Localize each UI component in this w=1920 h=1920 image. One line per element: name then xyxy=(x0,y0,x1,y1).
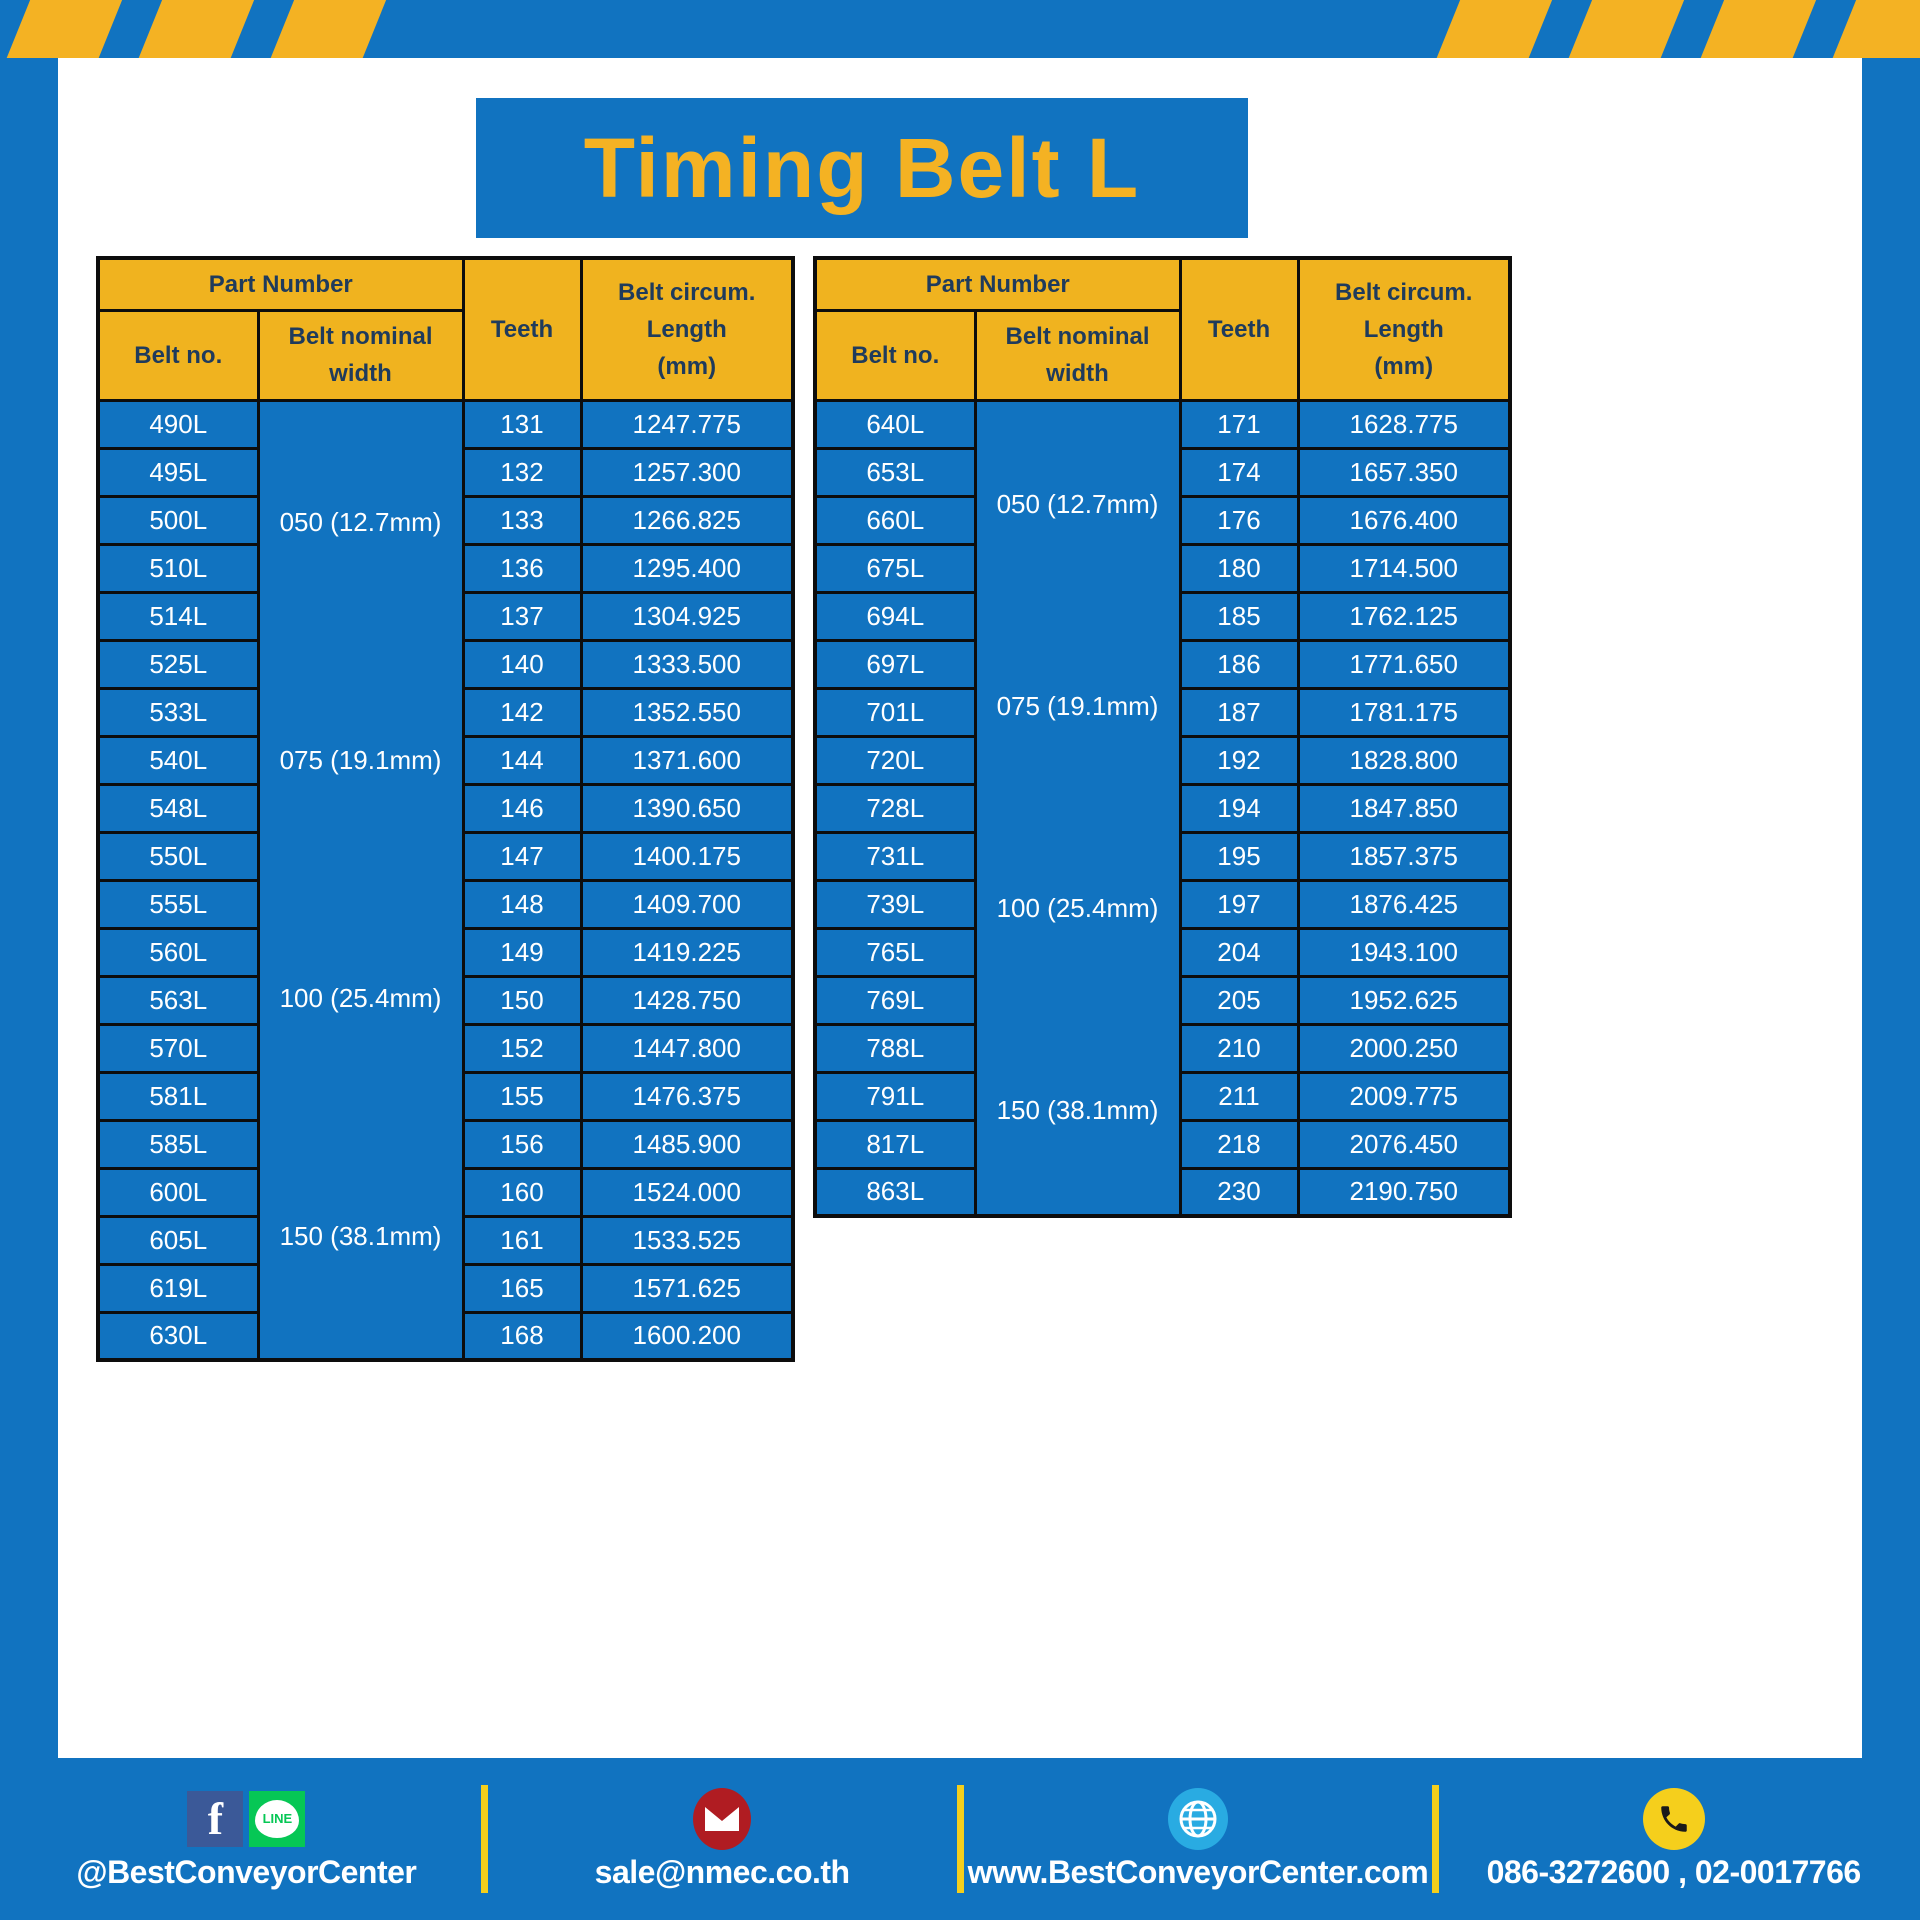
header-mm-text: (mm) xyxy=(587,348,788,385)
nominal-width-value: 150 (38.1mm) xyxy=(981,1010,1175,1212)
cell-length: 2076.450 xyxy=(1298,1120,1510,1168)
stripe-decoration xyxy=(1565,0,1686,58)
header-teeth: Teeth xyxy=(463,258,581,400)
belt-table-left-body: 490L050 (12.7mm)075 (19.1mm)100 (25.4mm)… xyxy=(98,400,793,1360)
cell-length: 1295.400 xyxy=(581,544,793,592)
cell-belt-no: 514L xyxy=(98,592,258,640)
cell-length: 2190.750 xyxy=(1298,1168,1510,1216)
header-belt-nominal-line1: Belt nominal xyxy=(981,318,1175,355)
header-part-number: Part Number xyxy=(815,258,1180,311)
cell-belt-no: 817L xyxy=(815,1120,975,1168)
cell-belt-no: 640L xyxy=(815,400,975,448)
cell-belt-no: 555L xyxy=(98,880,258,928)
cell-length: 1657.350 xyxy=(1298,448,1510,496)
cell-length: 1266.825 xyxy=(581,496,793,544)
cell-length: 1762.125 xyxy=(1298,592,1510,640)
stripe-decoration xyxy=(1433,0,1554,58)
footer-phone-group[interactable]: 086-3272600 , 02-0017766 xyxy=(1439,1788,1908,1891)
nominal-width-value: 050 (12.7mm) xyxy=(264,404,458,642)
cell-belt-no: 694L xyxy=(815,592,975,640)
top-decorative-band xyxy=(0,0,1920,58)
cell-teeth: 155 xyxy=(463,1072,581,1120)
nominal-width-value: 100 (25.4mm) xyxy=(264,880,458,1118)
cell-teeth: 161 xyxy=(463,1216,581,1264)
phone-icon[interactable] xyxy=(1643,1788,1705,1850)
cell-belt-no: 731L xyxy=(815,832,975,880)
cell-length: 1257.300 xyxy=(581,448,793,496)
cell-teeth: 146 xyxy=(463,784,581,832)
table-row: 490L050 (12.7mm)075 (19.1mm)100 (25.4mm)… xyxy=(98,400,793,448)
cell-length: 1419.225 xyxy=(581,928,793,976)
cell-teeth: 194 xyxy=(1180,784,1298,832)
cell-teeth: 133 xyxy=(463,496,581,544)
cell-belt-no: 630L xyxy=(98,1312,258,1360)
cell-length: 1533.525 xyxy=(581,1216,793,1264)
cell-length: 1390.650 xyxy=(581,784,793,832)
nominal-width-value: 100 (25.4mm) xyxy=(981,808,1175,1010)
cell-teeth: 160 xyxy=(463,1168,581,1216)
header-belt-circum-length: Belt circum. Length (mm) xyxy=(581,258,793,400)
header-belt-circum-text: Belt circum. xyxy=(1304,274,1505,311)
facebook-icon[interactable]: f xyxy=(187,1791,243,1847)
cell-teeth: 185 xyxy=(1180,592,1298,640)
cell-teeth: 150 xyxy=(463,976,581,1024)
cell-length: 1628.775 xyxy=(1298,400,1510,448)
header-belt-no: Belt no. xyxy=(98,311,258,400)
cell-length: 2009.775 xyxy=(1298,1072,1510,1120)
cell-belt-no: 791L xyxy=(815,1072,975,1120)
cell-length: 1857.375 xyxy=(1298,832,1510,880)
header-belt-nominal-width: Belt nominal width xyxy=(258,311,463,400)
footer-social-icons: f LINE xyxy=(187,1788,305,1850)
cell-length: 1714.500 xyxy=(1298,544,1510,592)
website-url: www.BestConveyorCenter.com xyxy=(968,1854,1429,1891)
footer-social-group[interactable]: f LINE @BestConveyorCenter xyxy=(12,1788,481,1891)
facebook-handle: @BestConveyorCenter xyxy=(76,1854,416,1891)
cell-belt-no: 560L xyxy=(98,928,258,976)
cell-length: 2000.250 xyxy=(1298,1024,1510,1072)
cell-teeth: 204 xyxy=(1180,928,1298,976)
footer-email-group[interactable]: sale@nmec.co.th xyxy=(488,1788,957,1891)
belt-table-right: Part Number Teeth Belt circum. Length (m… xyxy=(813,256,1512,1218)
cell-length: 1847.850 xyxy=(1298,784,1510,832)
cell-belt-nominal-width: 050 (12.7mm)075 (19.1mm)100 (25.4mm)150 … xyxy=(975,400,1180,1216)
header-belt-circum-length: Belt circum. Length (mm) xyxy=(1298,258,1510,400)
cell-belt-no: 739L xyxy=(815,880,975,928)
cell-belt-no: 495L xyxy=(98,448,258,496)
stripe-decoration xyxy=(3,0,124,58)
cell-belt-no: 581L xyxy=(98,1072,258,1120)
footer-divider xyxy=(1432,1785,1439,1893)
footer-contact-bar: f LINE @BestConveyorCenter sale@nmec.co.… xyxy=(0,1758,1920,1920)
cell-belt-no: 500L xyxy=(98,496,258,544)
cell-length: 1781.175 xyxy=(1298,688,1510,736)
header-mm-text: (mm) xyxy=(1304,348,1505,385)
phone-number: 086-3272600 , 02-0017766 xyxy=(1487,1854,1861,1891)
cell-teeth: 136 xyxy=(463,544,581,592)
header-belt-nominal-width: Belt nominal width xyxy=(975,311,1180,400)
cell-teeth: 197 xyxy=(1180,880,1298,928)
cell-length: 1571.625 xyxy=(581,1264,793,1312)
header-part-number: Part Number xyxy=(98,258,463,311)
cell-belt-no: 619L xyxy=(98,1264,258,1312)
cell-length: 1247.775 xyxy=(581,400,793,448)
header-belt-nominal-line2: width xyxy=(981,355,1175,392)
footer-divider xyxy=(957,1785,964,1893)
stripe-decoration xyxy=(1697,0,1818,58)
cell-teeth: 156 xyxy=(463,1120,581,1168)
belt-tables-container: Part Number Teeth Belt circum. Length (m… xyxy=(96,256,1826,1362)
cell-belt-no: 548L xyxy=(98,784,258,832)
cell-teeth: 168 xyxy=(463,1312,581,1360)
line-icon[interactable]: LINE xyxy=(249,1791,305,1847)
header-belt-no: Belt no. xyxy=(815,311,975,400)
cell-teeth: 132 xyxy=(463,448,581,496)
email-icon[interactable] xyxy=(693,1788,751,1850)
cell-length: 1409.700 xyxy=(581,880,793,928)
page-title-box: Timing Belt L xyxy=(476,98,1248,238)
cell-belt-no: 728L xyxy=(815,784,975,832)
cell-belt-nominal-width: 050 (12.7mm)075 (19.1mm)100 (25.4mm)150 … xyxy=(258,400,463,1360)
cell-teeth: 131 xyxy=(463,400,581,448)
cell-teeth: 230 xyxy=(1180,1168,1298,1216)
footer-website-group[interactable]: www.BestConveyorCenter.com xyxy=(964,1788,1433,1891)
page-title: Timing Belt L xyxy=(584,126,1140,210)
cell-teeth: 218 xyxy=(1180,1120,1298,1168)
cell-teeth: 140 xyxy=(463,640,581,688)
cell-belt-no: 533L xyxy=(98,688,258,736)
cell-teeth: 152 xyxy=(463,1024,581,1072)
header-belt-nominal-line2: width xyxy=(264,355,458,392)
cell-length: 1476.375 xyxy=(581,1072,793,1120)
cell-belt-no: 788L xyxy=(815,1024,975,1072)
cell-teeth: 165 xyxy=(463,1264,581,1312)
cell-teeth: 186 xyxy=(1180,640,1298,688)
table-row: 640L050 (12.7mm)075 (19.1mm)100 (25.4mm)… xyxy=(815,400,1510,448)
cell-teeth: 137 xyxy=(463,592,581,640)
content-card: Timing Belt L Part Number Teeth Belt cir… xyxy=(58,58,1862,1758)
cell-length: 1600.200 xyxy=(581,1312,793,1360)
cell-length: 1400.175 xyxy=(581,832,793,880)
cell-belt-no: 769L xyxy=(815,976,975,1024)
cell-length: 1447.800 xyxy=(581,1024,793,1072)
cell-belt-no: 605L xyxy=(98,1216,258,1264)
cell-teeth: 210 xyxy=(1180,1024,1298,1072)
cell-teeth: 142 xyxy=(463,688,581,736)
cell-teeth: 144 xyxy=(463,736,581,784)
nominal-width-value: 075 (19.1mm) xyxy=(264,642,458,880)
cell-teeth: 176 xyxy=(1180,496,1298,544)
cell-teeth: 192 xyxy=(1180,736,1298,784)
cell-length: 1828.800 xyxy=(1298,736,1510,784)
cell-belt-no: 653L xyxy=(815,448,975,496)
cell-belt-no: 701L xyxy=(815,688,975,736)
cell-teeth: 205 xyxy=(1180,976,1298,1024)
line-icon-label: LINE xyxy=(255,1800,299,1838)
nominal-width-value: 075 (19.1mm) xyxy=(981,606,1175,808)
header-teeth: Teeth xyxy=(1180,258,1298,400)
cell-length: 1876.425 xyxy=(1298,880,1510,928)
cell-belt-no: 563L xyxy=(98,976,258,1024)
footer-website-icon-wrap xyxy=(1168,1788,1228,1850)
table-header-row-1: Part Number Teeth Belt circum. Length (m… xyxy=(815,258,1510,311)
header-belt-circum-text: Belt circum. xyxy=(587,274,788,311)
nominal-width-value: 050 (12.7mm) xyxy=(981,404,1175,606)
cell-length: 1485.900 xyxy=(581,1120,793,1168)
header-belt-nominal-line1: Belt nominal xyxy=(264,318,458,355)
nominal-width-value: 150 (38.1mm) xyxy=(264,1118,458,1356)
stripe-decoration xyxy=(1829,0,1920,58)
email-address: sale@nmec.co.th xyxy=(595,1854,850,1891)
cell-length: 1524.000 xyxy=(581,1168,793,1216)
cell-teeth: 171 xyxy=(1180,400,1298,448)
cell-belt-no: 600L xyxy=(98,1168,258,1216)
cell-length: 1428.750 xyxy=(581,976,793,1024)
footer-email-icon-wrap xyxy=(693,1788,751,1850)
cell-belt-no: 585L xyxy=(98,1120,258,1168)
cell-length: 1352.550 xyxy=(581,688,793,736)
cell-length: 1333.500 xyxy=(581,640,793,688)
cell-length: 1676.400 xyxy=(1298,496,1510,544)
cell-teeth: 180 xyxy=(1180,544,1298,592)
cell-belt-no: 720L xyxy=(815,736,975,784)
footer-phone-icon-wrap xyxy=(1643,1788,1705,1850)
cell-teeth: 211 xyxy=(1180,1072,1298,1120)
cell-teeth: 149 xyxy=(463,928,581,976)
header-length-text: Length xyxy=(1304,311,1505,348)
belt-table-right-body: 640L050 (12.7mm)075 (19.1mm)100 (25.4mm)… xyxy=(815,400,1510,1216)
cell-length: 1304.925 xyxy=(581,592,793,640)
cell-teeth: 174 xyxy=(1180,448,1298,496)
cell-belt-no: 675L xyxy=(815,544,975,592)
cell-belt-no: 550L xyxy=(98,832,258,880)
globe-icon[interactable] xyxy=(1168,1788,1228,1850)
cell-belt-no: 697L xyxy=(815,640,975,688)
footer-divider xyxy=(481,1785,488,1893)
cell-teeth: 195 xyxy=(1180,832,1298,880)
cell-belt-no: 570L xyxy=(98,1024,258,1072)
header-length-text: Length xyxy=(587,311,788,348)
cell-belt-no: 540L xyxy=(98,736,258,784)
cell-teeth: 148 xyxy=(463,880,581,928)
cell-length: 1943.100 xyxy=(1298,928,1510,976)
belt-table-left: Part Number Teeth Belt circum. Length (m… xyxy=(96,256,795,1362)
cell-belt-no: 660L xyxy=(815,496,975,544)
cell-belt-no: 525L xyxy=(98,640,258,688)
cell-length: 1952.625 xyxy=(1298,976,1510,1024)
stripe-decoration xyxy=(135,0,256,58)
cell-belt-no: 765L xyxy=(815,928,975,976)
cell-belt-no: 490L xyxy=(98,400,258,448)
table-header-row-1: Part Number Teeth Belt circum. Length (m… xyxy=(98,258,793,311)
cell-belt-no: 510L xyxy=(98,544,258,592)
cell-length: 1771.650 xyxy=(1298,640,1510,688)
cell-teeth: 187 xyxy=(1180,688,1298,736)
stripe-decoration xyxy=(267,0,388,58)
cell-teeth: 147 xyxy=(463,832,581,880)
cell-length: 1371.600 xyxy=(581,736,793,784)
cell-belt-no: 863L xyxy=(815,1168,975,1216)
